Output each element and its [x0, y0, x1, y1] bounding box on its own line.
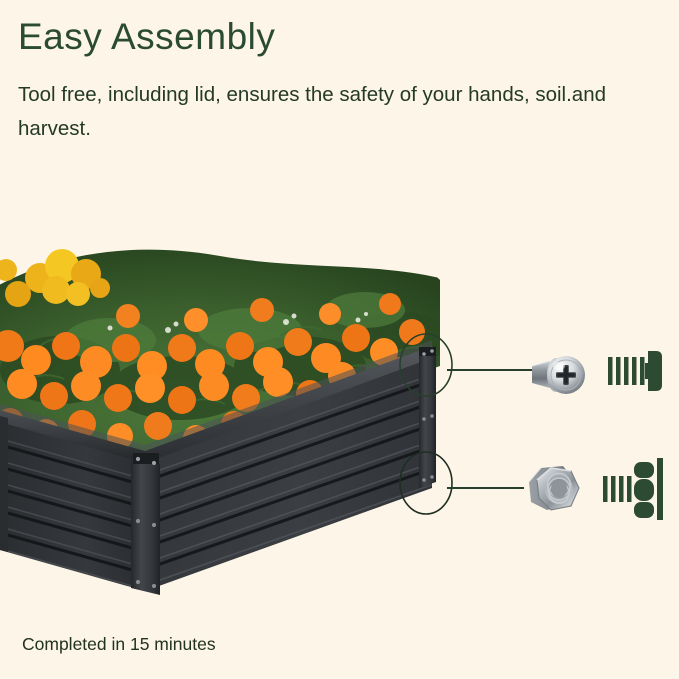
corner-post-front — [131, 453, 160, 595]
chrome-hex-nut-photo — [519, 458, 591, 524]
corner-post-left — [0, 416, 8, 552]
product-feature-panel: Easy Assembly Tool free, including lid, … — [0, 0, 679, 679]
cap-nut-diagram-icon — [604, 343, 666, 401]
callout-cap-nuts: Cap Nuts — [516, 340, 679, 430]
callout-standard-nuts: Standard Nuts — [505, 452, 679, 552]
standard-nut-diagram-icon — [601, 456, 667, 522]
page-title: Easy Assembly — [18, 14, 275, 60]
page-subtitle: Tool free, including lid, ensures the sa… — [18, 78, 628, 146]
chrome-screw-photo — [528, 344, 596, 406]
corner-post-right — [419, 346, 436, 488]
completion-time-caption: Completed in 15 minutes — [22, 634, 216, 655]
